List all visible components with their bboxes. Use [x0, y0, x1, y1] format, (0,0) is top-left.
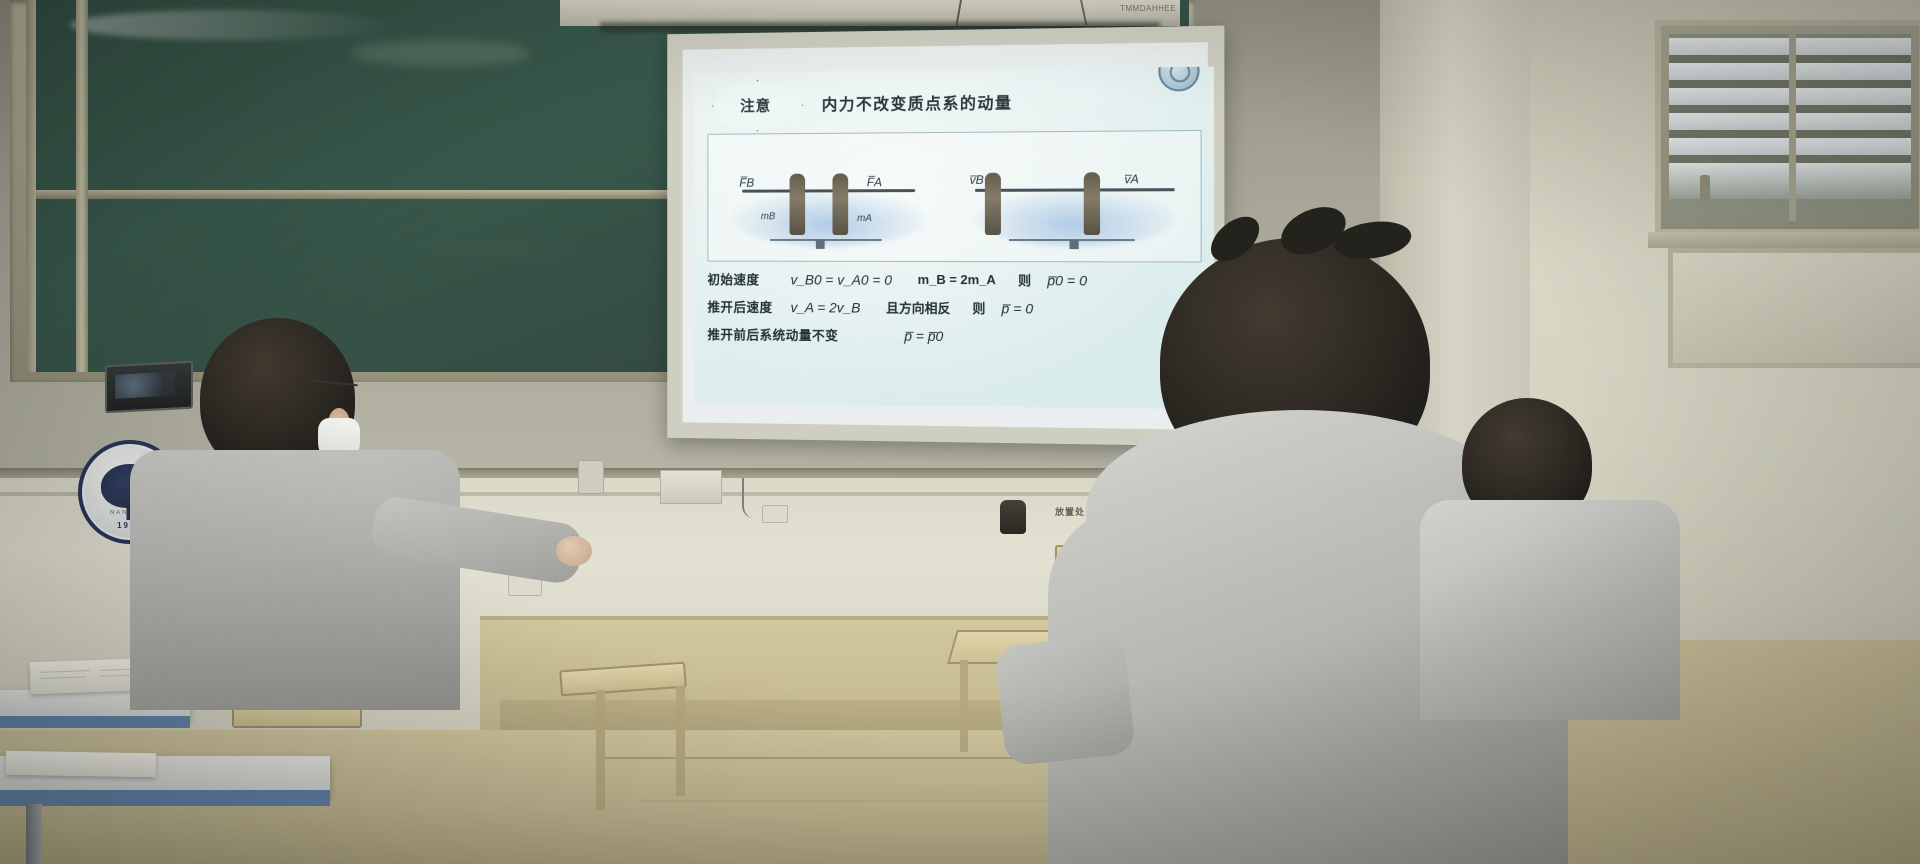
equation-result: p̅ = 0 — [1001, 300, 1033, 316]
velocity-label-b: v̅B — [970, 173, 984, 187]
chalk-smudge — [350, 40, 530, 66]
chair-leg — [596, 690, 605, 810]
equation-label: 推开前后系统动量不变 — [707, 324, 853, 344]
window-upper — [1655, 20, 1920, 235]
window-latch[interactable] — [1700, 175, 1710, 201]
slide-equations: 初始速度 v_B0 = v_A0 = 0 m_B = 2m_A 则 p̅0 = … — [707, 269, 1201, 405]
student-hand — [556, 536, 592, 566]
chalkboard-vertical-rail — [76, 0, 88, 372]
equation-then: 则 — [972, 298, 985, 317]
tablet-display-content — [115, 372, 175, 399]
chalkboard-vertical-rail-outer — [26, 0, 36, 372]
notebook — [6, 751, 156, 778]
wall-speaker — [1000, 500, 1026, 534]
figure-panel-velocities: v̅B v̅A — [950, 131, 1201, 262]
skater-figure — [984, 173, 1000, 235]
attention-badge-label: 注意 — [711, 80, 800, 130]
desk-leg — [26, 804, 42, 864]
ceiling-device-label: TMMDAHHEE — [1120, 4, 1176, 13]
chalkboard-glare — [70, 10, 390, 40]
desk-edge-trim — [0, 790, 330, 806]
classroom-photo: TMMDAHHEE 注意 内力不改变质点系的动量 — [0, 0, 1920, 864]
figure-block — [1069, 240, 1078, 249]
student-torso — [130, 450, 460, 710]
equation-row: 初始速度 v_B0 = v_A0 = 0 m_B = 2m_A 则 p̅0 = … — [707, 269, 1201, 290]
mass-label-b: mB — [761, 211, 776, 222]
equation-result: p̅0 = 0 — [1047, 272, 1087, 288]
equation-row: 推开前后系统动量不变 p̅ = p̅0 — [707, 324, 1201, 347]
student-arm — [994, 634, 1136, 767]
velocity-label-a: v̅A — [1124, 172, 1138, 186]
window-mullion — [1789, 34, 1796, 221]
equation-label: 推开后速度 — [707, 297, 790, 316]
wall-mounted-tablet[interactable] — [105, 361, 193, 414]
slide-figure-box: F̅B F̅A mB mA v̅B v̅A — [707, 130, 1201, 263]
equation-then: 则 — [1018, 270, 1031, 289]
wall-outlet[interactable] — [762, 505, 788, 523]
equation-expression: v_A = 2v_B — [791, 299, 861, 315]
wall-control-panel[interactable] — [660, 470, 722, 504]
slide-corner-logo — [1158, 67, 1199, 92]
mass-label-a: mA — [857, 213, 872, 224]
equation-result: p̅ = p̅0 — [904, 327, 943, 343]
force-label-b: F̅B — [739, 176, 754, 190]
slide-header: 注意 内力不改变质点系的动量 — [704, 73, 1214, 134]
slide-title: 内力不改变质点系的动量 — [822, 89, 1013, 115]
desk-edge-trim — [0, 716, 190, 728]
figure-block — [816, 240, 825, 249]
window-lower-panel — [1668, 248, 1920, 368]
figure-panel-forces: F̅B F̅A mB mA — [708, 133, 950, 261]
equation-expression: v_B0 = v_A0 = 0 — [791, 271, 892, 287]
skater-figure — [833, 173, 849, 235]
chair-leg — [676, 686, 685, 796]
force-label-a: F̅A — [867, 175, 882, 189]
wall-sign-board: 放置处 — [1055, 505, 1085, 518]
attention-starburst-icon: 注意 — [711, 80, 804, 132]
skater-figure — [1084, 172, 1100, 235]
wall-bracket — [578, 460, 604, 494]
equation-label: 初始速度 — [707, 269, 790, 288]
force-bar — [742, 189, 916, 193]
projected-slide: 注意 内力不改变质点系的动量 F̅B F̅A mB mA — [694, 67, 1214, 410]
skater-figure — [790, 174, 806, 235]
chalk-smudge — [430, 240, 580, 260]
velocity-bar — [975, 188, 1175, 192]
window-sill — [1648, 232, 1920, 248]
projection-screen: 注意 内力不改变质点系的动量 F̅B F̅A mB mA — [667, 26, 1224, 447]
equation-row: 推开后速度 v_A = 2v_B 且方向相反 则 p̅ = 0 — [707, 297, 1201, 319]
student-torso — [1420, 500, 1680, 720]
chair-leg — [960, 660, 968, 752]
figure-ground-line — [770, 239, 881, 241]
equation-note: m_B = 2m_A — [918, 272, 996, 287]
equation-note: 且方向相反 — [886, 298, 950, 317]
